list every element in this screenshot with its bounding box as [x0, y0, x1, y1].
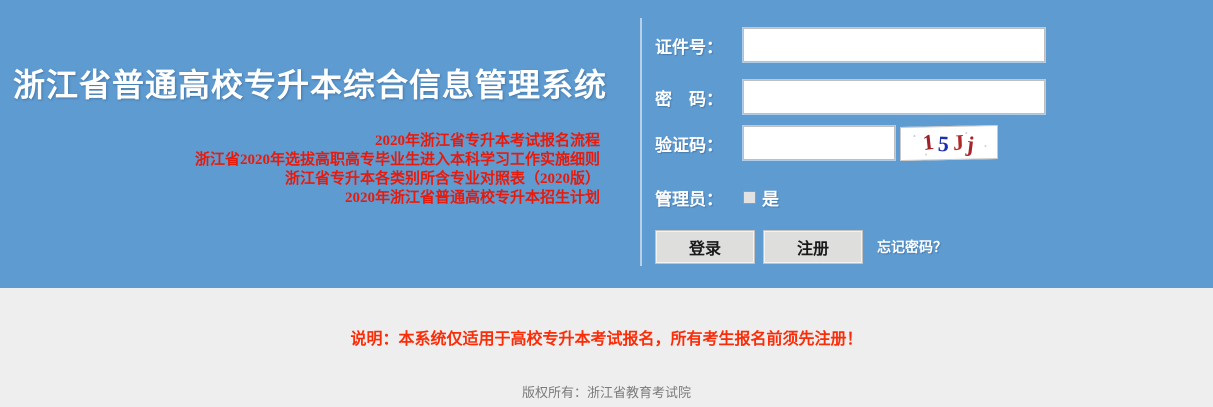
announcement-link-list: 2020年浙江省专升本考试报名流程 浙江省2020年选拔高职高专毕业生进入本科学… [0, 132, 600, 208]
password-input[interactable] [743, 80, 1045, 114]
forgot-password-link[interactable]: 忘记密码？ [877, 237, 947, 257]
admin-label: 管理员： [655, 185, 743, 210]
captcha-input[interactable] [743, 126, 895, 160]
register-button[interactable]: 注册 [763, 230, 863, 264]
captcha-char-2: 5 [937, 131, 950, 158]
captcha-char-4: j [966, 131, 976, 158]
admin-row: 管理员： 是 [655, 180, 779, 214]
page-title: 浙江省普通高校专升本综合信息管理系统 [0, 60, 620, 106]
login-button[interactable]: 登录 [655, 230, 755, 264]
form-actions-row: 登录 注册 忘记密码？ [655, 230, 947, 264]
vertical-divider [640, 18, 642, 266]
brand-block: 浙江省普通高校专升本综合信息管理系统 2020年浙江省专升本考试报名流程 浙江省… [0, 0, 620, 288]
copyright-text: 版权所有：浙江省教育考试院 [0, 382, 1213, 401]
captcha-row: 验证码： 1 5 J j [655, 126, 998, 160]
announcement-link-1[interactable]: 2020年浙江省专升本考试报名流程 [0, 132, 600, 151]
system-notice: 说明：本系统仅适用于高校专升本考试报名，所有考生报名前须先注册！ [0, 325, 1213, 349]
id-number-input[interactable] [743, 28, 1045, 62]
captcha-image[interactable]: 1 5 J j [900, 125, 998, 161]
admin-checkbox[interactable] [743, 191, 756, 204]
announcement-link-2[interactable]: 浙江省2020年选拔高职高专毕业生进入本科学习工作实施细则 [0, 151, 600, 170]
login-form: 证件号： 密 码： 验证码： 1 5 J j 管理员： 是 登录 注册 [655, 0, 1175, 288]
hero-panel: 浙江省普通高校专升本综合信息管理系统 2020年浙江省专升本考试报名流程 浙江省… [0, 0, 1213, 288]
captcha-char-1: 1 [922, 129, 936, 156]
announcement-link-4[interactable]: 2020年浙江省普通高校专升本招生计划 [0, 189, 600, 208]
password-label: 密 码： [655, 85, 743, 110]
id-number-row: 证件号： [655, 28, 1045, 62]
announcement-link-3[interactable]: 浙江省专升本各类别所含专业对照表（2020版） [0, 170, 600, 189]
admin-yes-label: 是 [762, 185, 779, 210]
captcha-label: 验证码： [655, 131, 743, 156]
password-row: 密 码： [655, 80, 1045, 114]
id-number-label: 证件号： [655, 33, 743, 58]
captcha-char-3: J [953, 129, 965, 156]
